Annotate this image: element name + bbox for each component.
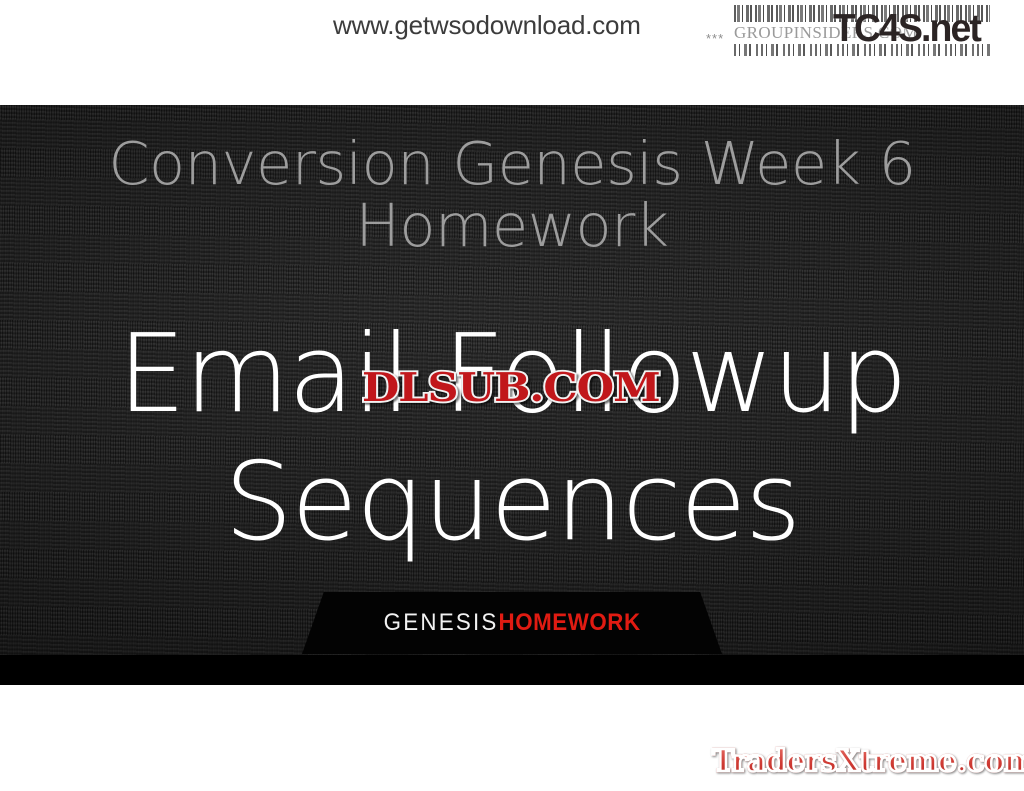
main-heading: Email Followup Sequences: [0, 311, 1024, 567]
course-title: Conversion Genesis Week 6 Homework: [0, 133, 1024, 257]
site-url-text: www.getwsodownload.com: [333, 10, 641, 41]
tc4s-logo-watermark: TC4S.net: [833, 7, 980, 51]
dlsub-watermark: DLSUB.COM: [362, 365, 660, 411]
barcode-stars-decoration: ***: [706, 31, 724, 46]
top-header-bar: www.getwsodownload.com *** GROUPINSIDERS…: [0, 0, 1024, 105]
genesis-homework-badge: GENESISHOMEWORK: [302, 592, 722, 654]
black-footer-strip: [0, 655, 1024, 685]
tradersxtreme-watermark: TradersXtreme.com: [712, 744, 1024, 779]
badge-label-homework: HOMEWORK: [498, 609, 640, 636]
badge-text: GENESISHOMEWORK: [384, 609, 641, 637]
badge-label-genesis: GENESIS: [384, 609, 499, 636]
